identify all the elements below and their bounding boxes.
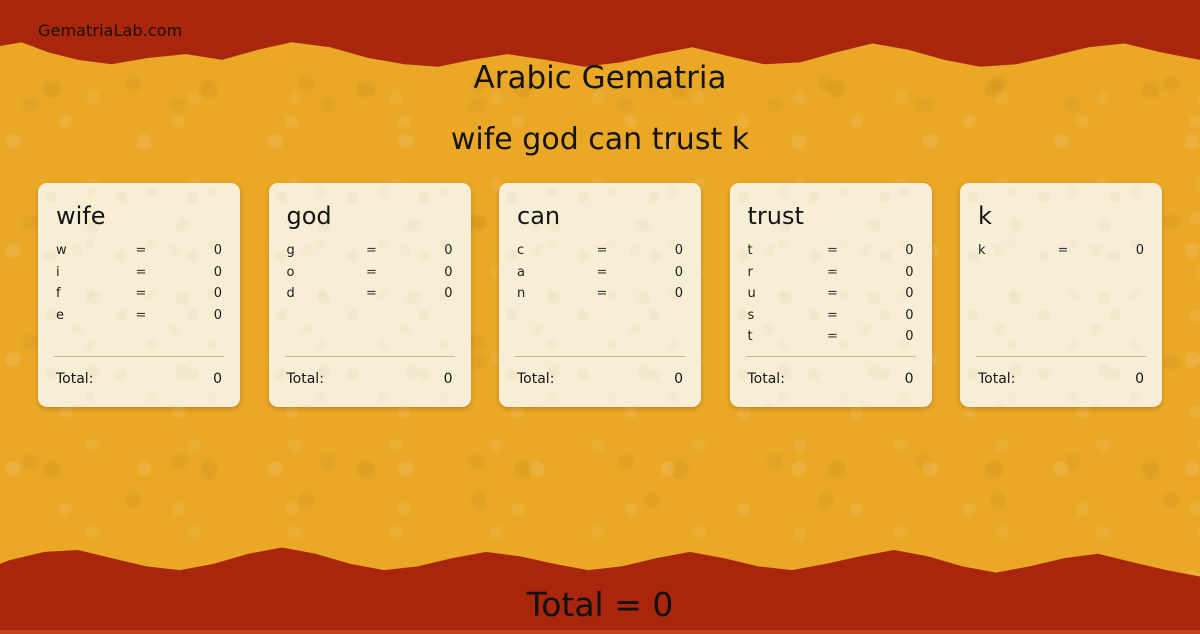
letter-char: g bbox=[285, 243, 352, 258]
equals-sign: = bbox=[1043, 243, 1084, 258]
equals-sign: = bbox=[582, 243, 623, 258]
letter-char: w bbox=[54, 243, 121, 258]
letter-value: 0 bbox=[853, 286, 916, 301]
letter-char: o bbox=[285, 265, 352, 280]
card-total-row: Total: 0 bbox=[54, 371, 224, 387]
card-total-value: 0 bbox=[1135, 371, 1146, 387]
letter-char: t bbox=[746, 329, 813, 344]
card-divider bbox=[746, 356, 916, 357]
equals-sign: = bbox=[812, 329, 853, 344]
letter-value: 0 bbox=[161, 265, 224, 280]
letter-char: r bbox=[746, 265, 813, 280]
letter-row: a = 0 bbox=[515, 265, 685, 287]
equals-sign: = bbox=[121, 243, 162, 258]
letter-value: 0 bbox=[392, 243, 455, 258]
letter-char: k bbox=[976, 243, 1043, 258]
card-total-value: 0 bbox=[674, 371, 685, 387]
letter-row: s = 0 bbox=[746, 308, 916, 330]
card-divider bbox=[515, 356, 685, 357]
card-divider bbox=[54, 356, 224, 357]
letter-row: u = 0 bbox=[746, 286, 916, 308]
letter-value: 0 bbox=[1083, 243, 1146, 258]
letter-value: 0 bbox=[622, 243, 685, 258]
phrase-subtitle: wife god can trust k bbox=[0, 122, 1200, 157]
card-total-label: Total: bbox=[515, 371, 554, 387]
letter-row: k = 0 bbox=[976, 243, 1146, 265]
letter-value: 0 bbox=[622, 265, 685, 280]
letter-row: t = 0 bbox=[746, 329, 916, 351]
letter-char: s bbox=[746, 308, 813, 323]
equals-sign: = bbox=[812, 308, 853, 323]
letter-row: t = 0 bbox=[746, 243, 916, 265]
card-total-footer: Total: 0 bbox=[746, 356, 916, 387]
card-total-row: Total: 0 bbox=[515, 371, 685, 387]
letter-row: e = 0 bbox=[54, 308, 224, 330]
equals-sign: = bbox=[351, 286, 392, 301]
equals-sign: = bbox=[121, 308, 162, 323]
letter-value: 0 bbox=[853, 243, 916, 258]
card-total-footer: Total: 0 bbox=[515, 356, 685, 387]
letter-row: n = 0 bbox=[515, 286, 685, 308]
equals-sign: = bbox=[582, 265, 623, 280]
card-word-title: can bbox=[517, 203, 685, 229]
card-total-row: Total: 0 bbox=[976, 371, 1146, 387]
letter-row: f = 0 bbox=[54, 286, 224, 308]
letter-char: t bbox=[746, 243, 813, 258]
card-word-title: wife bbox=[56, 203, 224, 229]
letter-value: 0 bbox=[853, 265, 916, 280]
equals-sign: = bbox=[351, 265, 392, 280]
card-word-title: god bbox=[287, 203, 455, 229]
card-total-value: 0 bbox=[444, 371, 455, 387]
letter-row: c = 0 bbox=[515, 243, 685, 265]
letter-value: 0 bbox=[853, 329, 916, 344]
letter-value: 0 bbox=[161, 243, 224, 258]
letter-row: r = 0 bbox=[746, 265, 916, 287]
letter-value-list: g = 0 o = 0 d = 0 bbox=[285, 243, 455, 308]
card-total-footer: Total: 0 bbox=[976, 356, 1146, 387]
equals-sign: = bbox=[812, 243, 853, 258]
card-total-value: 0 bbox=[213, 371, 224, 387]
card-total-label: Total: bbox=[746, 371, 785, 387]
word-card: trust t = 0 r = 0 u = 0 s bbox=[730, 183, 932, 407]
equals-sign: = bbox=[351, 243, 392, 258]
letter-char: u bbox=[746, 286, 813, 301]
grand-total-label: Total = 0 bbox=[0, 585, 1200, 624]
letter-row: i = 0 bbox=[54, 265, 224, 287]
word-card-list: wife w = 0 i = 0 f = 0 e bbox=[38, 183, 1162, 407]
letter-char: d bbox=[285, 286, 352, 301]
letter-row: g = 0 bbox=[285, 243, 455, 265]
card-total-footer: Total: 0 bbox=[54, 356, 224, 387]
equals-sign: = bbox=[582, 286, 623, 301]
card-total-row: Total: 0 bbox=[746, 371, 916, 387]
card-total-label: Total: bbox=[976, 371, 1015, 387]
letter-value: 0 bbox=[161, 308, 224, 323]
letter-value: 0 bbox=[161, 286, 224, 301]
card-word-title: k bbox=[978, 203, 1146, 229]
letter-value: 0 bbox=[853, 308, 916, 323]
equals-sign: = bbox=[812, 286, 853, 301]
equals-sign: = bbox=[121, 286, 162, 301]
letter-value: 0 bbox=[622, 286, 685, 301]
page-title: Arabic Gematria bbox=[0, 60, 1200, 96]
equals-sign: = bbox=[121, 265, 162, 280]
letter-char: e bbox=[54, 308, 121, 323]
gematria-image-canvas: GematriaLab.com Arabic Gematria wife god… bbox=[0, 0, 1200, 630]
letter-char: n bbox=[515, 286, 582, 301]
word-card: k k = 0 Total: 0 bbox=[960, 183, 1162, 407]
word-card: wife w = 0 i = 0 f = 0 e bbox=[38, 183, 240, 407]
card-divider bbox=[285, 356, 455, 357]
card-total-label: Total: bbox=[285, 371, 324, 387]
card-total-footer: Total: 0 bbox=[285, 356, 455, 387]
site-watermark: GematriaLab.com bbox=[38, 21, 182, 40]
card-divider bbox=[976, 356, 1146, 357]
letter-char: i bbox=[54, 265, 121, 280]
letter-row: w = 0 bbox=[54, 243, 224, 265]
word-card: god g = 0 o = 0 d = 0 bbox=[269, 183, 471, 407]
card-word-title: trust bbox=[748, 203, 916, 229]
letter-char: a bbox=[515, 265, 582, 280]
equals-sign: = bbox=[812, 265, 853, 280]
letter-char: c bbox=[515, 243, 582, 258]
letter-value-list: w = 0 i = 0 f = 0 e = 0 bbox=[54, 243, 224, 329]
card-total-value: 0 bbox=[905, 371, 916, 387]
card-total-row: Total: 0 bbox=[285, 371, 455, 387]
letter-value-list: c = 0 a = 0 n = 0 bbox=[515, 243, 685, 308]
card-total-label: Total: bbox=[54, 371, 93, 387]
letter-row: d = 0 bbox=[285, 286, 455, 308]
letter-char: f bbox=[54, 286, 121, 301]
letter-row: o = 0 bbox=[285, 265, 455, 287]
letter-value-list: t = 0 r = 0 u = 0 s = 0 bbox=[746, 243, 916, 351]
word-card: can c = 0 a = 0 n = 0 bbox=[499, 183, 701, 407]
letter-value: 0 bbox=[392, 265, 455, 280]
letter-value: 0 bbox=[392, 286, 455, 301]
letter-value-list: k = 0 bbox=[976, 243, 1146, 265]
